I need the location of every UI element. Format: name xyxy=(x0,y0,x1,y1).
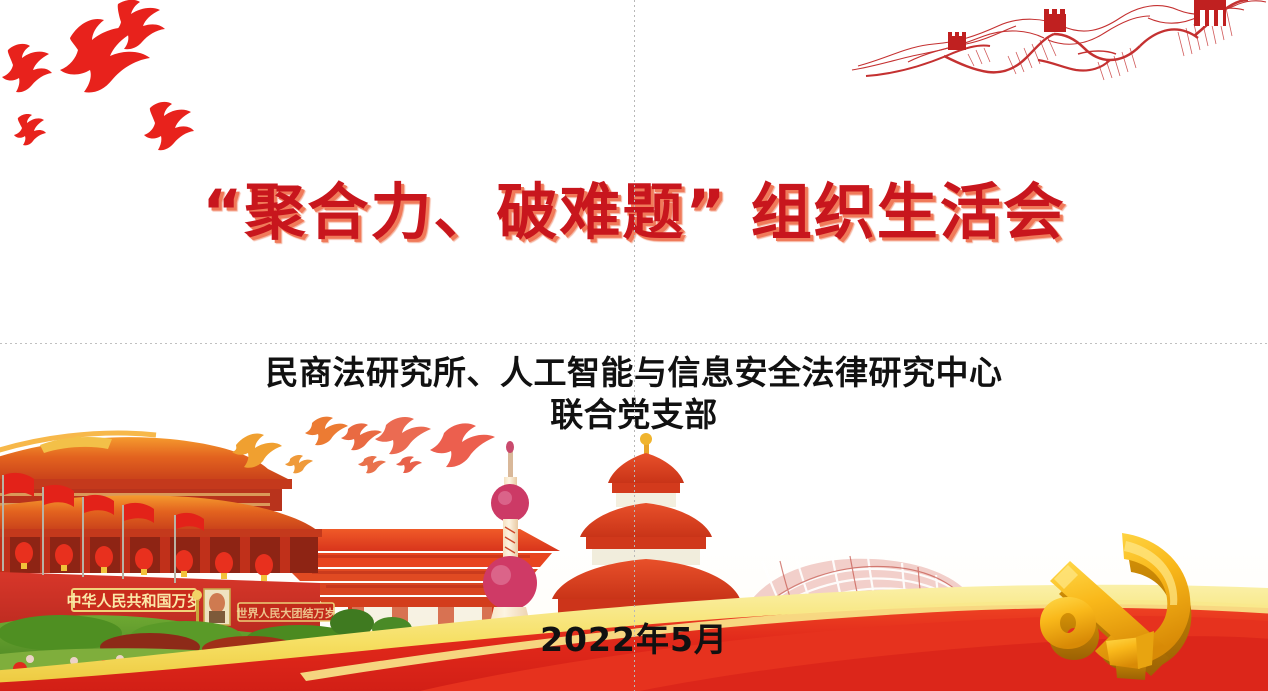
slide-date: 2022年5月 xyxy=(540,620,728,659)
subtitle-line-1: 民商法研究所、人工智能与信息安全法律研究中心 xyxy=(0,352,1268,394)
flying-doves-red-icon xyxy=(0,0,300,170)
slide-title: “聚合力、破难题” 组织生活会 xyxy=(202,178,1065,248)
slide-title-container: “聚合力、破难题” 组织生活会 xyxy=(0,178,1268,248)
tiananmen-banner-text: 中华人民共和国万岁 xyxy=(66,592,201,610)
presentation-slide: “聚合力、破难题” 组织生活会 民商法研究所、人工智能与信息安全法律研究中心 联… xyxy=(0,0,1268,691)
slide-date-container: 2022年5月 xyxy=(0,613,1268,661)
great-wall-line-art-icon xyxy=(848,0,1268,115)
slide-subtitle-container: 民商法研究所、人工智能与信息安全法律研究中心 联合党支部 xyxy=(0,352,1268,436)
horizontal-guide-line xyxy=(0,343,1268,344)
subtitle-line-2: 联合党支部 xyxy=(0,394,1268,436)
